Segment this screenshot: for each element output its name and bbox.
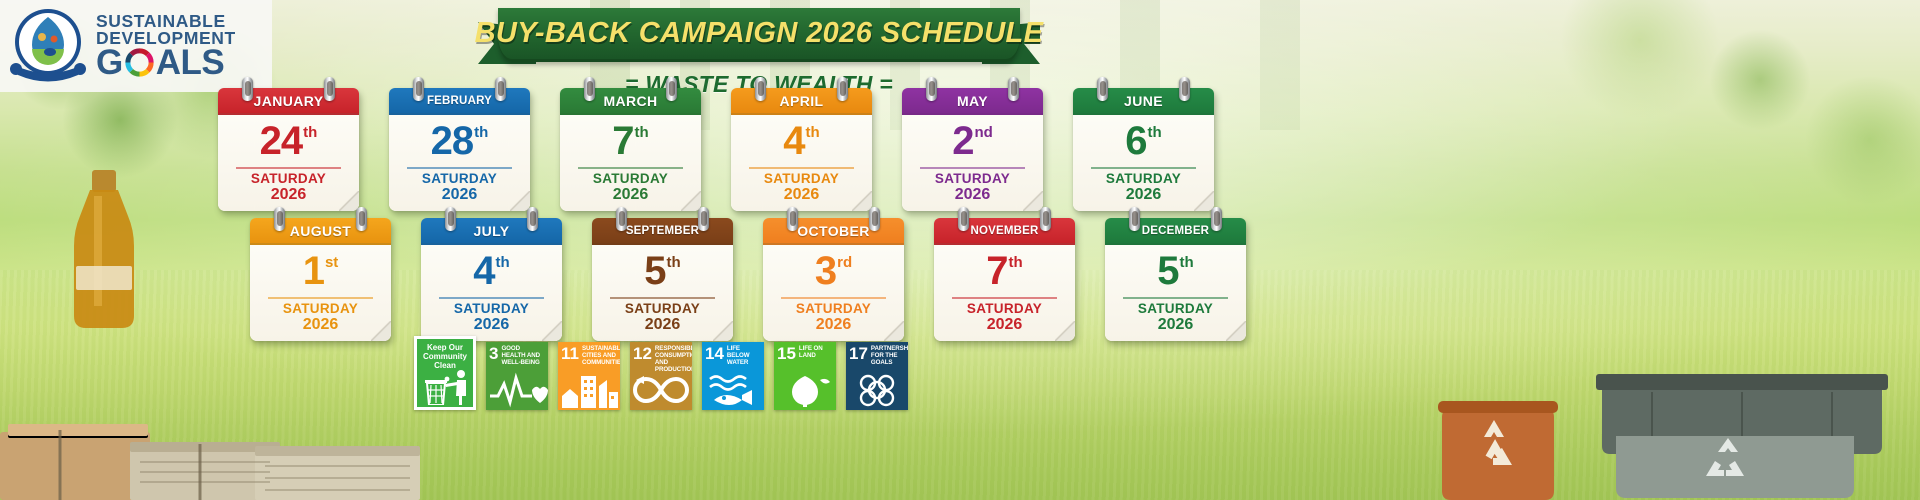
sdg-goal-artwork	[846, 372, 908, 408]
calendar-month-header: JULY	[421, 218, 562, 245]
goals-suffix-text: ALS	[156, 48, 225, 79]
calendar-year: 2026	[769, 316, 898, 334]
calendar-month-header: AUGUST	[250, 218, 391, 245]
calendar-date-row: 2nd	[908, 121, 1037, 165]
calendar-day-of-week: SATURDAY	[427, 302, 556, 316]
calendar-ring-left	[926, 77, 937, 101]
goals-prefix-text: G	[96, 48, 123, 79]
fish-waves-icon	[702, 372, 764, 408]
calendar-day-of-week: SATURDAY	[256, 302, 385, 316]
calendar-day-of-week: SATURDAY	[908, 172, 1037, 186]
sdg-goal-number: 3	[489, 346, 498, 367]
sdg-badge-goal-3: 3GOOD HEALTH AND WELL-BEING	[486, 342, 548, 410]
sdg-badge-header: 12RESPONSIBLE CONSUMPTION AND PRODUCTION	[630, 342, 692, 374]
calendar-ring-right	[666, 77, 677, 101]
calendar-month-header: FEBRUARY	[389, 88, 530, 115]
calendar-month-label: MARCH	[603, 93, 657, 109]
banner-ribbon: BUY-BACK CAMPAIGN 2026 SCHEDULE	[478, 2, 1040, 64]
sdg-badge-goal-15: 15LIFE ON LAND	[774, 342, 836, 410]
calendar-day-suffix: st	[325, 254, 338, 271]
litter-bin-person-icon	[417, 369, 476, 405]
calendar-body: 6thSATURDAY2026	[1073, 115, 1214, 211]
sdg-badge-row: Keep Our Community Clean3GOOD HEALTH AND…	[414, 336, 908, 410]
calendar-date-row: 28th	[395, 121, 524, 165]
calendar-body: 7thSATURDAY2026	[560, 115, 701, 211]
partnership-circles-icon	[846, 372, 908, 408]
tree-bird-icon	[774, 372, 836, 408]
calendar-day-number: 24	[260, 121, 303, 161]
calendar-day-number: 5	[644, 251, 665, 291]
calendar-ring-left	[755, 77, 766, 101]
sdg-goal-label: LIFE BELOW WATER	[727, 346, 761, 367]
calendar-day-number: 4	[783, 121, 804, 161]
calendar-card-november[interactable]: NOVEMBER7thSATURDAY2026	[934, 218, 1075, 341]
calendar-ring-left	[413, 77, 424, 101]
sdg-goal-label: GOOD HEALTH AND WELL-BEING	[501, 346, 545, 367]
calendar-card-april[interactable]: APRIL4thSATURDAY2026	[731, 88, 872, 211]
calendar-month-header: APRIL	[731, 88, 872, 115]
calendar-day-number: 3	[815, 251, 836, 291]
calendar-ring-left	[1097, 77, 1108, 101]
calendar-body: 4thSATURDAY2026	[421, 245, 562, 341]
calendar-card-december[interactable]: DECEMBER5thSATURDAY2026	[1105, 218, 1246, 341]
sdg-goal-number: 11	[561, 346, 579, 367]
calendar-divider	[268, 297, 373, 299]
calendar-month-label: MAY	[957, 93, 988, 109]
calendar-ring-right	[869, 207, 880, 231]
sdg-goal-artwork	[630, 372, 692, 408]
calendar-date-row: 6th	[1079, 121, 1208, 165]
calendar-year: 2026	[1079, 186, 1208, 204]
calendar-month-label: NOVEMBER	[970, 225, 1038, 237]
calendar-divider	[610, 297, 715, 299]
calendar-day-of-week: SATURDAY	[737, 172, 866, 186]
calendar-card-february[interactable]: FEBRUARY28thSATURDAY2026	[389, 88, 530, 211]
calendar-card-august[interactable]: AUGUST1stSATURDAY2026	[250, 218, 391, 341]
calendar-date-row: 4th	[737, 121, 866, 165]
calendar-card-september[interactable]: SEPTEMBER5thSATURDAY2026	[592, 218, 733, 341]
calendar-day-number: 6	[1125, 121, 1146, 161]
calendar-year: 2026	[427, 316, 556, 334]
sdg-badge-keep-our-community-clean: Keep Our Community Clean	[414, 336, 476, 410]
calendar-body: 7thSATURDAY2026	[934, 245, 1075, 341]
calendar-date-row: 1st	[256, 251, 385, 295]
calendar-day-suffix: th	[496, 254, 510, 271]
calendar-day-suffix: th	[303, 124, 317, 141]
calendar-month-label: SEPTEMBER	[626, 225, 699, 237]
calendar-body: 4thSATURDAY2026	[731, 115, 872, 211]
calendar-day-of-week: SATURDAY	[1079, 172, 1208, 186]
calendar-ring-right	[324, 77, 335, 101]
calendar-ring-right	[1211, 207, 1222, 231]
sdg-goal-label: LIFE ON LAND	[799, 346, 833, 362]
sdg-goal-number: 12	[633, 346, 652, 374]
calendar-ring-left	[445, 207, 456, 231]
calendar-year: 2026	[566, 186, 695, 204]
city-buildings-icon	[558, 372, 620, 408]
calendar-ring-right	[698, 207, 709, 231]
calendar-day-of-week: SATURDAY	[598, 302, 727, 316]
calendar-date-row: 7th	[940, 251, 1069, 295]
calendar-card-january[interactable]: JANUARY24thSATURDAY2026	[218, 88, 359, 211]
sdg-goal-label: PARTNERSHIPS FOR THE GOALS	[871, 346, 908, 367]
calendar-divider	[236, 167, 341, 169]
calendar-day-suffix: rd	[837, 254, 852, 271]
calendar-year: 2026	[940, 316, 1069, 334]
sdg-goal-number: 15	[777, 346, 796, 362]
calendar-ring-right	[1008, 77, 1019, 101]
calendar-ring-right	[837, 77, 848, 101]
sdg-goal-artwork	[774, 372, 836, 408]
calendar-date-row: 5th	[598, 251, 727, 295]
calendar-divider	[952, 297, 1057, 299]
sdg-goal-artwork	[558, 372, 620, 408]
calendar-day-number: 7	[612, 121, 633, 161]
calendar-ring-left	[242, 77, 253, 101]
calendar-ring-right	[356, 207, 367, 231]
recycle-barrel-illustration	[1420, 395, 1620, 500]
calendar-day-of-week: SATURDAY	[769, 302, 898, 316]
calendar-month-header: SEPTEMBER	[592, 218, 733, 245]
calendar-day-suffix: th	[1148, 124, 1162, 141]
calendar-month-label: FEBRUARY	[427, 95, 492, 107]
calendar-date-row: 3rd	[769, 251, 898, 295]
calendar-month-label: DECEMBER	[1142, 225, 1209, 237]
calendar-year: 2026	[1111, 316, 1240, 334]
calendar-year: 2026	[395, 186, 524, 204]
calendar-date-row: 24th	[224, 121, 353, 165]
sdg-badge-goal-14: 14LIFE BELOW WATER	[702, 342, 764, 410]
sdg-badge-goal-17: 17PARTNERSHIPS FOR THE GOALS	[846, 342, 908, 410]
sdg-badge-header: 15LIFE ON LAND	[774, 342, 836, 362]
calendar-ring-left	[584, 77, 595, 101]
calendar-divider	[920, 167, 1025, 169]
majlis-bandaraya-miri-crest-icon	[6, 5, 90, 87]
calendar-day-suffix: th	[474, 124, 488, 141]
calendar-ring-right	[1040, 207, 1051, 231]
calendar-card-june[interactable]: JUNE6thSATURDAY2026	[1073, 88, 1214, 211]
calendar-divider	[781, 297, 886, 299]
calendar-body: 2ndSATURDAY2026	[902, 115, 1043, 211]
heartbeat-icon	[486, 372, 548, 408]
calendar-divider	[407, 167, 512, 169]
calendar-ring-right	[1179, 77, 1190, 101]
calendar-year: 2026	[256, 316, 385, 334]
banner-title: BUY-BACK CAMPAIGN 2026 SCHEDULE	[475, 17, 1044, 50]
calendar-ring-left	[958, 207, 969, 231]
sdg-badge-header: 3GOOD HEALTH AND WELL-BEING	[486, 342, 548, 367]
calendar-year: 2026	[908, 186, 1037, 204]
calendar-day-number: 2	[952, 121, 973, 161]
calendar-day-of-week: SATURDAY	[940, 302, 1069, 316]
calendar-row-first-half: JANUARY24thSATURDAY2026FEBRUARY28thSATUR…	[218, 88, 1214, 211]
sdg-goal-artwork	[486, 372, 548, 408]
sdg-badge-header: 11SUSTAINABLE CITIES AND COMMUNITIES	[558, 342, 620, 367]
sdg-color-wheel-icon	[124, 47, 155, 78]
calendar-day-suffix: th	[1180, 254, 1194, 271]
calendar-date-row: 5th	[1111, 251, 1240, 295]
calendar-year: 2026	[224, 186, 353, 204]
amber-bottle-illustration	[58, 170, 150, 335]
calendar-ring-left	[616, 207, 627, 231]
calendar-month-header: NOVEMBER	[934, 218, 1075, 245]
calendar-year: 2026	[598, 316, 727, 334]
sdg-goal-number: 17	[849, 346, 868, 367]
calendar-divider	[1123, 297, 1228, 299]
calendar-body: 5thSATURDAY2026	[1105, 245, 1246, 341]
kocc-title: Keep Our Community Clean	[417, 339, 473, 371]
calendar-day-of-week: SATURDAY	[566, 172, 695, 186]
calendar-day-of-week: SATURDAY	[224, 172, 353, 186]
sdg-badge-header: 17PARTNERSHIPS FOR THE GOALS	[846, 342, 908, 367]
calendar-month-label: JANUARY	[254, 93, 324, 109]
sdg-wordmark: SUSTAINABLE DEVELOPMENT G	[96, 13, 236, 78]
calendar-day-suffix: th	[635, 124, 649, 141]
calendar-month-label: APRIL	[780, 93, 824, 109]
calendar-divider	[749, 167, 854, 169]
calendar-card-october[interactable]: OCTOBER3rdSATURDAY2026	[763, 218, 904, 341]
calendar-day-number: 7	[986, 251, 1007, 291]
sdg-badge-goal-12: 12RESPONSIBLE CONSUMPTION AND PRODUCTION	[630, 342, 692, 410]
calendar-body: 24thSATURDAY2026	[218, 115, 359, 211]
calendar-month-label: OCTOBER	[797, 223, 870, 239]
calendar-ring-left	[1129, 207, 1140, 231]
calendar-body: 3rdSATURDAY2026	[763, 245, 904, 341]
calendar-card-march[interactable]: MARCH7thSATURDAY2026	[560, 88, 701, 211]
newspaper-stack-illustration	[0, 390, 420, 500]
calendar-divider	[578, 167, 683, 169]
calendar-ring-right	[495, 77, 506, 101]
calendar-ring-left	[787, 207, 798, 231]
calendar-body: 28thSATURDAY2026	[389, 115, 530, 211]
sdg-badge-header: 14LIFE BELOW WATER	[702, 342, 764, 367]
calendar-day-suffix: th	[667, 254, 681, 271]
infinity-loop-icon	[630, 372, 692, 408]
calendar-month-header: MAY	[902, 88, 1043, 115]
calendar-day-number: 4	[473, 251, 494, 291]
calendar-day-suffix: th	[806, 124, 820, 141]
calendar-ring-left	[274, 207, 285, 231]
calendar-day-number: 5	[1157, 251, 1178, 291]
calendar-date-row: 4th	[427, 251, 556, 295]
calendar-body: 1stSATURDAY2026	[250, 245, 391, 341]
sdg-badge-goal-11: 11SUSTAINABLE CITIES AND COMMUNITIES	[558, 342, 620, 410]
calendar-day-of-week: SATURDAY	[395, 172, 524, 186]
calendar-body: 5thSATURDAY2026	[592, 245, 733, 341]
sdg-goal-label: SUSTAINABLE CITIES AND COMMUNITIES	[582, 346, 620, 367]
calendar-day-of-week: SATURDAY	[1111, 302, 1240, 316]
calendar-year: 2026	[737, 186, 866, 204]
calendar-month-header: DECEMBER	[1105, 218, 1246, 245]
calendar-month-label: JUNE	[1124, 93, 1163, 109]
sdg-goals-row: G ALS	[96, 47, 236, 79]
calendar-month-header: OCTOBER	[763, 218, 904, 245]
calendar-row-second-half: AUGUST1stSATURDAY2026JULY4thSATURDAY2026…	[250, 218, 1246, 341]
calendar-month-header: JANUARY	[218, 88, 359, 115]
calendar-card-july[interactable]: JULY4thSATURDAY2026	[421, 218, 562, 341]
calendar-ring-right	[527, 207, 538, 231]
calendar-day-number: 1	[303, 251, 324, 291]
calendar-month-header: JUNE	[1073, 88, 1214, 115]
calendar-day-number: 28	[431, 121, 474, 161]
calendar-day-suffix: th	[1009, 254, 1023, 271]
calendar-month-header: MARCH	[560, 88, 701, 115]
calendar-month-label: JULY	[473, 223, 509, 239]
calendar-divider	[1091, 167, 1196, 169]
calendar-divider	[439, 297, 544, 299]
calendar-month-label: AUGUST	[290, 223, 352, 239]
calendar-day-suffix: nd	[974, 124, 992, 141]
ribbon-center: BUY-BACK CAMPAIGN 2026 SCHEDULE	[498, 8, 1020, 62]
calendar-date-row: 7th	[566, 121, 695, 165]
sdg-goal-number: 14	[705, 346, 724, 367]
calendar-card-may[interactable]: MAY2ndSATURDAY2026	[902, 88, 1043, 211]
sdg-goal-label: RESPONSIBLE CONSUMPTION AND PRODUCTION	[655, 346, 692, 374]
sdg-goal-artwork	[702, 372, 764, 408]
metal-crate-illustration	[1610, 430, 1860, 500]
organization-logo-block: SUSTAINABLE DEVELOPMENT G	[0, 0, 272, 92]
